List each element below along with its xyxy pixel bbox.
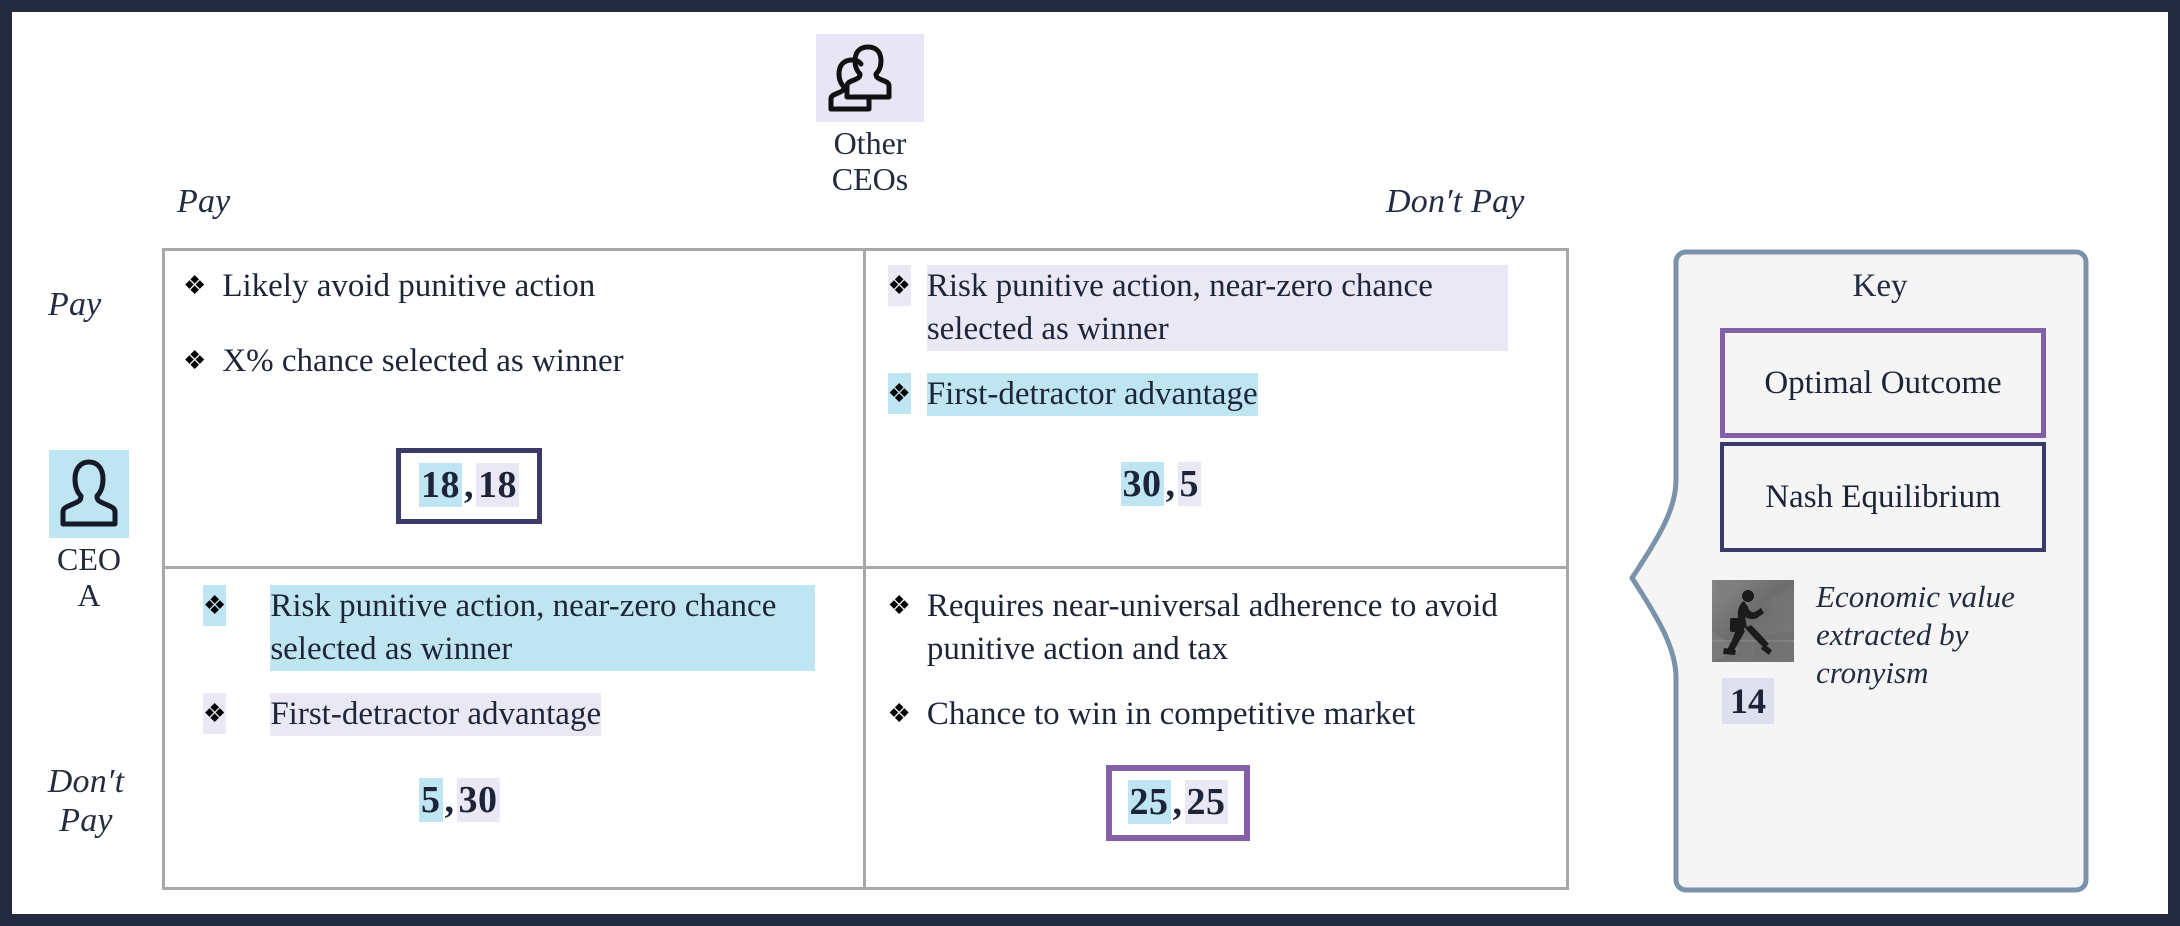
cell-pay-dontpay[interactable]: ❖ Risk punitive action, near-zero chance… (866, 251, 1567, 569)
payoff-col-value: 18 (476, 463, 519, 507)
row-header-dont-pay: Don′t Pay (26, 762, 146, 841)
cell-dontpay-pay[interactable]: ❖ Risk punitive action, near-zero chance… (165, 569, 866, 887)
payoff-value: 30,5 (1121, 462, 1202, 506)
column-header-pay: Pay (177, 182, 230, 221)
cell-bullet-list: ❖ Requires near-universal adherence to a… (866, 585, 1567, 750)
column-header-dont-pay: Don′t Pay (1386, 182, 1525, 221)
cell-pay-pay[interactable]: ❖ Likely avoid punitive action ❖ X% chan… (165, 251, 866, 569)
bullet-diamond-icon: ❖ (888, 693, 911, 734)
bullet-item: ❖ First-detractor advantage (888, 373, 1388, 416)
bullet-item: ❖ Risk punitive action, near-zero chance… (888, 265, 1508, 351)
key-item-optimal-outcome: Optimal Outcome (1720, 328, 2046, 438)
key-item-label: Nash Equilibrium (1765, 479, 2001, 516)
bullet-diamond-icon: ❖ (183, 265, 206, 306)
payoff-separator: , (1164, 463, 1178, 505)
person-icon (49, 450, 129, 538)
bullet-item: ❖ Risk punitive action, near-zero chance… (183, 585, 815, 671)
payoff-value-optimal: 25,25 (1106, 765, 1250, 841)
payoff-matrix: ❖ Likely avoid punitive action ❖ X% chan… (162, 248, 1569, 890)
diagram-frame: Other CEOs Pay Don′t Pay Pay CEO A Don′t… (0, 0, 2180, 926)
bullet-item: ❖ Chance to win in competitive market (888, 693, 1488, 736)
bullet-item: ❖ Requires near-universal adherence to a… (888, 585, 1528, 671)
bullet-diamond-icon: ❖ (183, 340, 206, 381)
key-legend-value: 14 (1722, 678, 1774, 724)
bullet-diamond-icon: ❖ (203, 585, 226, 626)
key-panel: Key Optimal Outcome Nash Equilibrium (1598, 248, 2090, 894)
cell-bullet-list: ❖ Risk punitive action, near-zero chance… (165, 585, 863, 750)
payoff-separator: , (462, 464, 476, 506)
bullet-diamond-icon: ❖ (203, 693, 226, 734)
key-title: Key (1672, 268, 2088, 305)
payoff-row-value: 5 (419, 778, 443, 822)
payoff-col-value: 25 (1185, 780, 1228, 824)
key-item-nash-equilibrium: Nash Equilibrium (1720, 442, 2046, 552)
payoff-row-value: 18 (419, 463, 462, 507)
payoff-value: 5,30 (419, 778, 500, 822)
payoff-separator: , (1171, 781, 1185, 823)
cell-bullet-list: ❖ Likely avoid punitive action ❖ X% chan… (165, 265, 863, 397)
row-player-ceo-a: CEO A (34, 450, 144, 614)
bullet-diamond-icon: ❖ (888, 373, 911, 414)
bullet-item: ❖ Likely avoid punitive action (183, 265, 845, 308)
payoff-col-value: 30 (457, 778, 500, 822)
row-header-pay: Pay (48, 285, 101, 324)
two-people-icon (816, 34, 924, 122)
payoff-row-value: 30 (1121, 462, 1164, 506)
key-item-label: Optimal Outcome (1764, 365, 2001, 402)
cell-dontpay-dontpay[interactable]: ❖ Requires near-universal adherence to a… (866, 569, 1567, 887)
column-player-other-ceos: Other CEOs (790, 34, 950, 198)
payoff-row-value: 25 (1128, 780, 1171, 824)
bullet-item: ❖ First-detractor advantage (183, 693, 735, 736)
cell-bullet-list: ❖ Risk punitive action, near-zero chance… (866, 265, 1567, 430)
bullet-diamond-icon: ❖ (888, 585, 911, 626)
row-player-label: CEO A (57, 542, 121, 614)
column-player-label: Other CEOs (832, 126, 908, 198)
key-legend-caption: Economic value extracted by cronyism (1816, 578, 2078, 691)
bullet-item: ❖ X% chance selected as winner (183, 340, 845, 383)
bullet-diamond-icon: ❖ (888, 265, 911, 306)
payoff-col-value: 5 (1178, 462, 1202, 506)
payoff-value-nash: 18,18 (396, 448, 542, 524)
running-person-with-bag-photo (1712, 580, 1794, 662)
payoff-separator: , (443, 779, 457, 821)
